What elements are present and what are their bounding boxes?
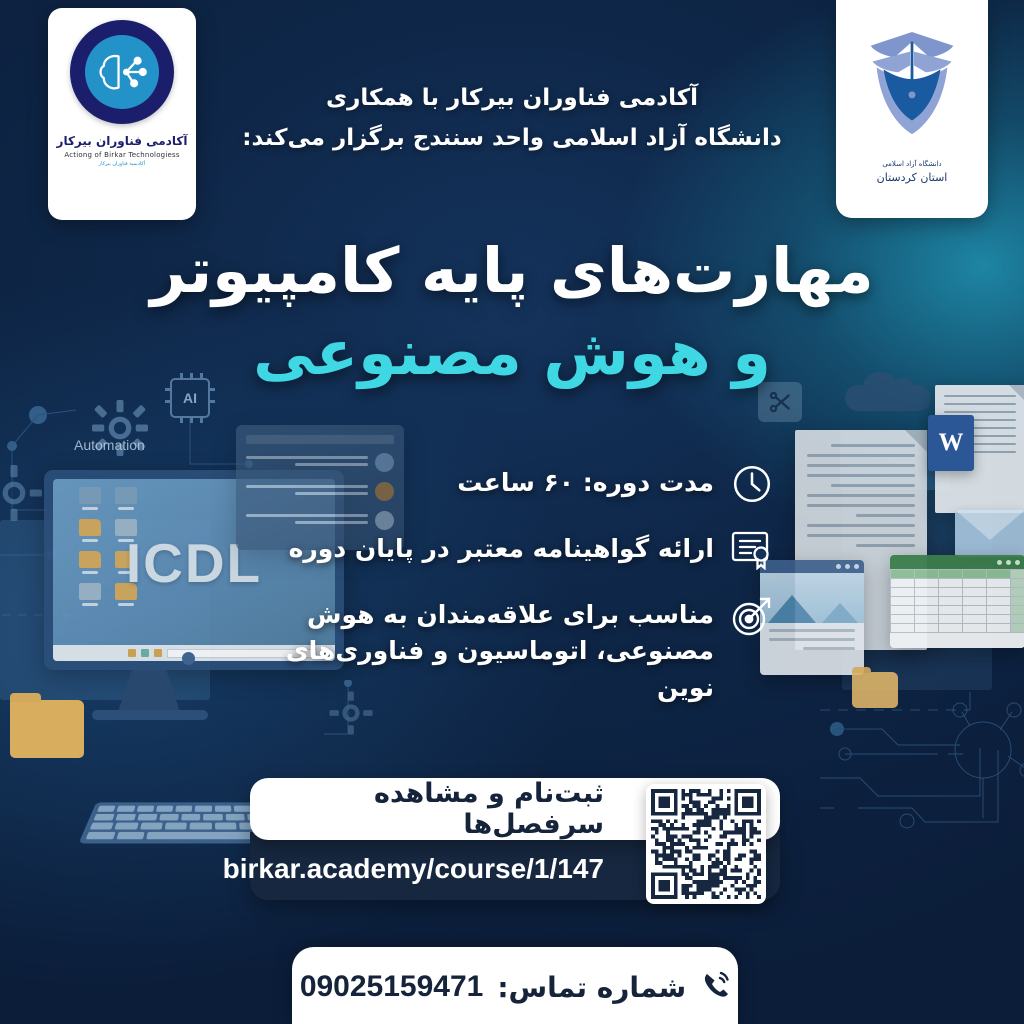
cta-label: ثبت‌نام و مشاهده سرفصل‌ها (278, 778, 604, 840)
header-line-2: دانشگاه آزاد اسلامی واحد سنندج برگزار می… (0, 118, 1024, 158)
contact-label: شماره تماس: (497, 971, 686, 1004)
certificate-icon (730, 528, 774, 572)
azad-province-fa: استان کردستان (877, 171, 948, 184)
title-line-1: مهارت‌های پایه کامپیوتر (0, 232, 1024, 310)
target-icon (730, 594, 774, 638)
poster-canvas: Automation AI (0, 0, 1024, 1024)
clock-icon (730, 462, 774, 506)
page-title: مهارت‌های پایه کامپیوتر و هوش مصنوعی (0, 232, 1024, 391)
qr-code[interactable] (646, 784, 766, 904)
title-line-2: و هوش مصنوعی (0, 314, 1024, 392)
cta-block[interactable]: ثبت‌نام و مشاهده سرفصل‌ها birkar.academy… (250, 778, 780, 900)
feature-list: مدت دوره: ۶۰ ساعت ارائه گواهینامه معتبر … (244, 462, 774, 728)
feature-text: ارائه گواهینامه معتبر در پایان دوره (289, 528, 714, 567)
contact-number: 09025159471 (300, 970, 484, 1004)
feature-text: مدت دوره: ۶۰ ساعت (457, 462, 714, 501)
contact-bar[interactable]: شماره تماس: 09025159471 (292, 947, 738, 1024)
feature-item-certificate: ارائه گواهینامه معتبر در پایان دوره (244, 528, 774, 572)
feature-item-duration: مدت دوره: ۶۰ ساعت (244, 462, 774, 506)
azad-caption-fa: دانشگاه آزاد اسلامی (882, 160, 941, 168)
feature-item-audience: مناسب برای علاقه‌مندان به هوش مصنوعی، ات… (244, 594, 774, 706)
feature-text: مناسب برای علاقه‌مندان به هوش مصنوعی، ات… (244, 594, 714, 706)
poster-content: آکادمی فناوران بیرکار Actiong of Birkar … (0, 0, 1024, 1024)
header-line-1: آکادمی فناوران بیرکار با همکاری (0, 78, 1024, 118)
phone-icon (700, 970, 730, 1004)
cta-url: birkar.academy/course/1/147 (223, 853, 604, 885)
academy-name-ar: أكاديمية فناوران بيركار (99, 161, 145, 167)
header-text: آکادمی فناوران بیرکار با همکاری دانشگاه … (0, 78, 1024, 159)
